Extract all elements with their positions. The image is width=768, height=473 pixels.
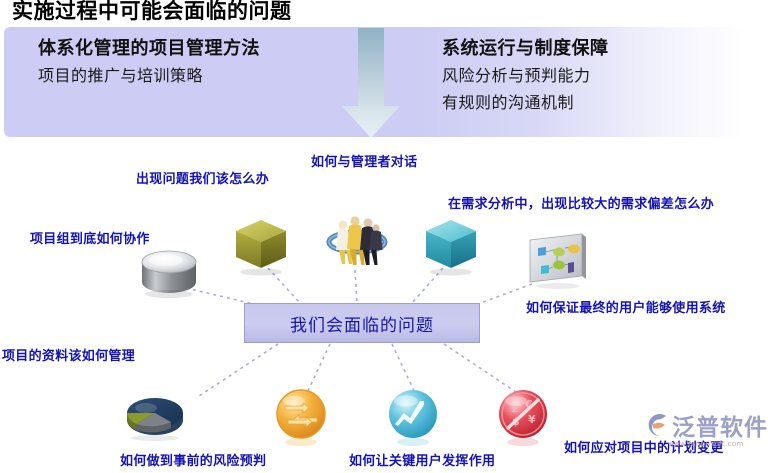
olive-cube-icon[interactable]: [234, 218, 290, 276]
fanpu-swirl-icon: [644, 412, 670, 438]
people-group-icon[interactable]: [326, 208, 388, 270]
brand-logo-url: www.fanpusoft.com: [668, 440, 744, 448]
node-label-manager-dialog[interactable]: 如何与管理者对话: [311, 151, 417, 170]
banner-column-left: 体系化管理的项目管理方法 项目的推广与培训策略: [38, 36, 260, 89]
red-no-currency-icon[interactable]: £ € $ ¥: [494, 388, 552, 450]
cylinder-database-icon[interactable]: [138, 248, 200, 300]
node-label-requirement-gap[interactable]: 在需求分析中，出现比较大的需求偏差怎么办: [448, 193, 714, 212]
brand-logo-text: 泛普软件: [672, 408, 768, 442]
brand-logo[interactable]: 泛普软件: [644, 408, 768, 442]
banner-column-right: 系统运行与制度保障 风险分析与预判能力 有规则的沟通机制: [442, 36, 609, 116]
node-label-problem-handling[interactable]: 出现问题我们该怎么办: [136, 168, 269, 187]
orange-exchange-icon[interactable]: [272, 388, 330, 450]
pie-chart-3d-icon[interactable]: [124, 392, 186, 442]
node-label-key-users[interactable]: 如何让关键用户发挥作用: [349, 450, 495, 469]
banner-right-line-2: 有规则的沟通机制: [442, 89, 609, 116]
banner-right-line-1: 风险分析与预判能力: [442, 62, 609, 89]
node-label-collaboration[interactable]: 项目组到底如何协作: [30, 228, 150, 247]
banner-left-heading: 体系化管理的项目管理方法: [38, 36, 260, 62]
center-node[interactable]: 我们会面临的问题: [244, 303, 480, 343]
flowchart-panel-icon[interactable]: [524, 232, 592, 290]
cyan-trend-sphere-icon[interactable]: [384, 388, 442, 450]
banner-left-line-1: 项目的推广与培训策略: [38, 62, 260, 89]
node-label-end-user-usage[interactable]: 如何保证最终的用户能够使用系统: [526, 297, 726, 316]
node-label-risk-forecast[interactable]: 如何做到事前的风险预判: [120, 450, 266, 469]
node-label-doc-management[interactable]: 项目的资料该如何管理: [2, 345, 135, 364]
banner-right-heading: 系统运行与制度保障: [442, 36, 609, 62]
svg-text:¥: ¥: [528, 413, 536, 426]
down-arrow-icon: [340, 28, 402, 140]
teal-cube-icon[interactable]: [424, 218, 480, 276]
center-node-label: 我们会面临的问题: [290, 311, 434, 336]
